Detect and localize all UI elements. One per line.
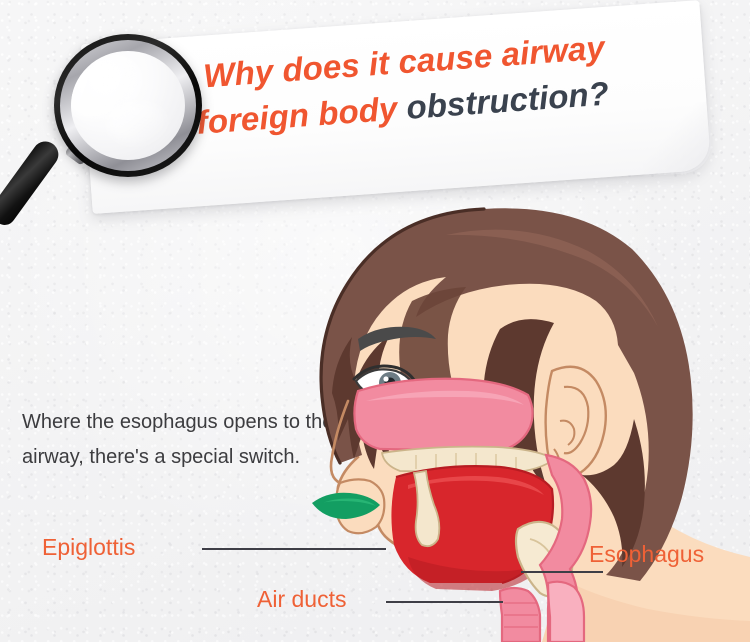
eye-highlight [383,376,388,381]
callout-label-epiglottis: Epiglottis [42,534,135,560]
infographic-canvas: Why does it cause airway foreign body ob… [0,0,750,642]
leader-line-esophagus [521,571,603,573]
callout-label-esophagus: Esophagus [589,541,704,567]
head-cross-section-illustration [296,205,750,642]
leader-line-air-ducts [386,601,503,603]
nasal-cavity [354,379,532,451]
leader-line-epiglottis [202,548,386,550]
callout-label-air-ducts: Air ducts [257,586,346,612]
